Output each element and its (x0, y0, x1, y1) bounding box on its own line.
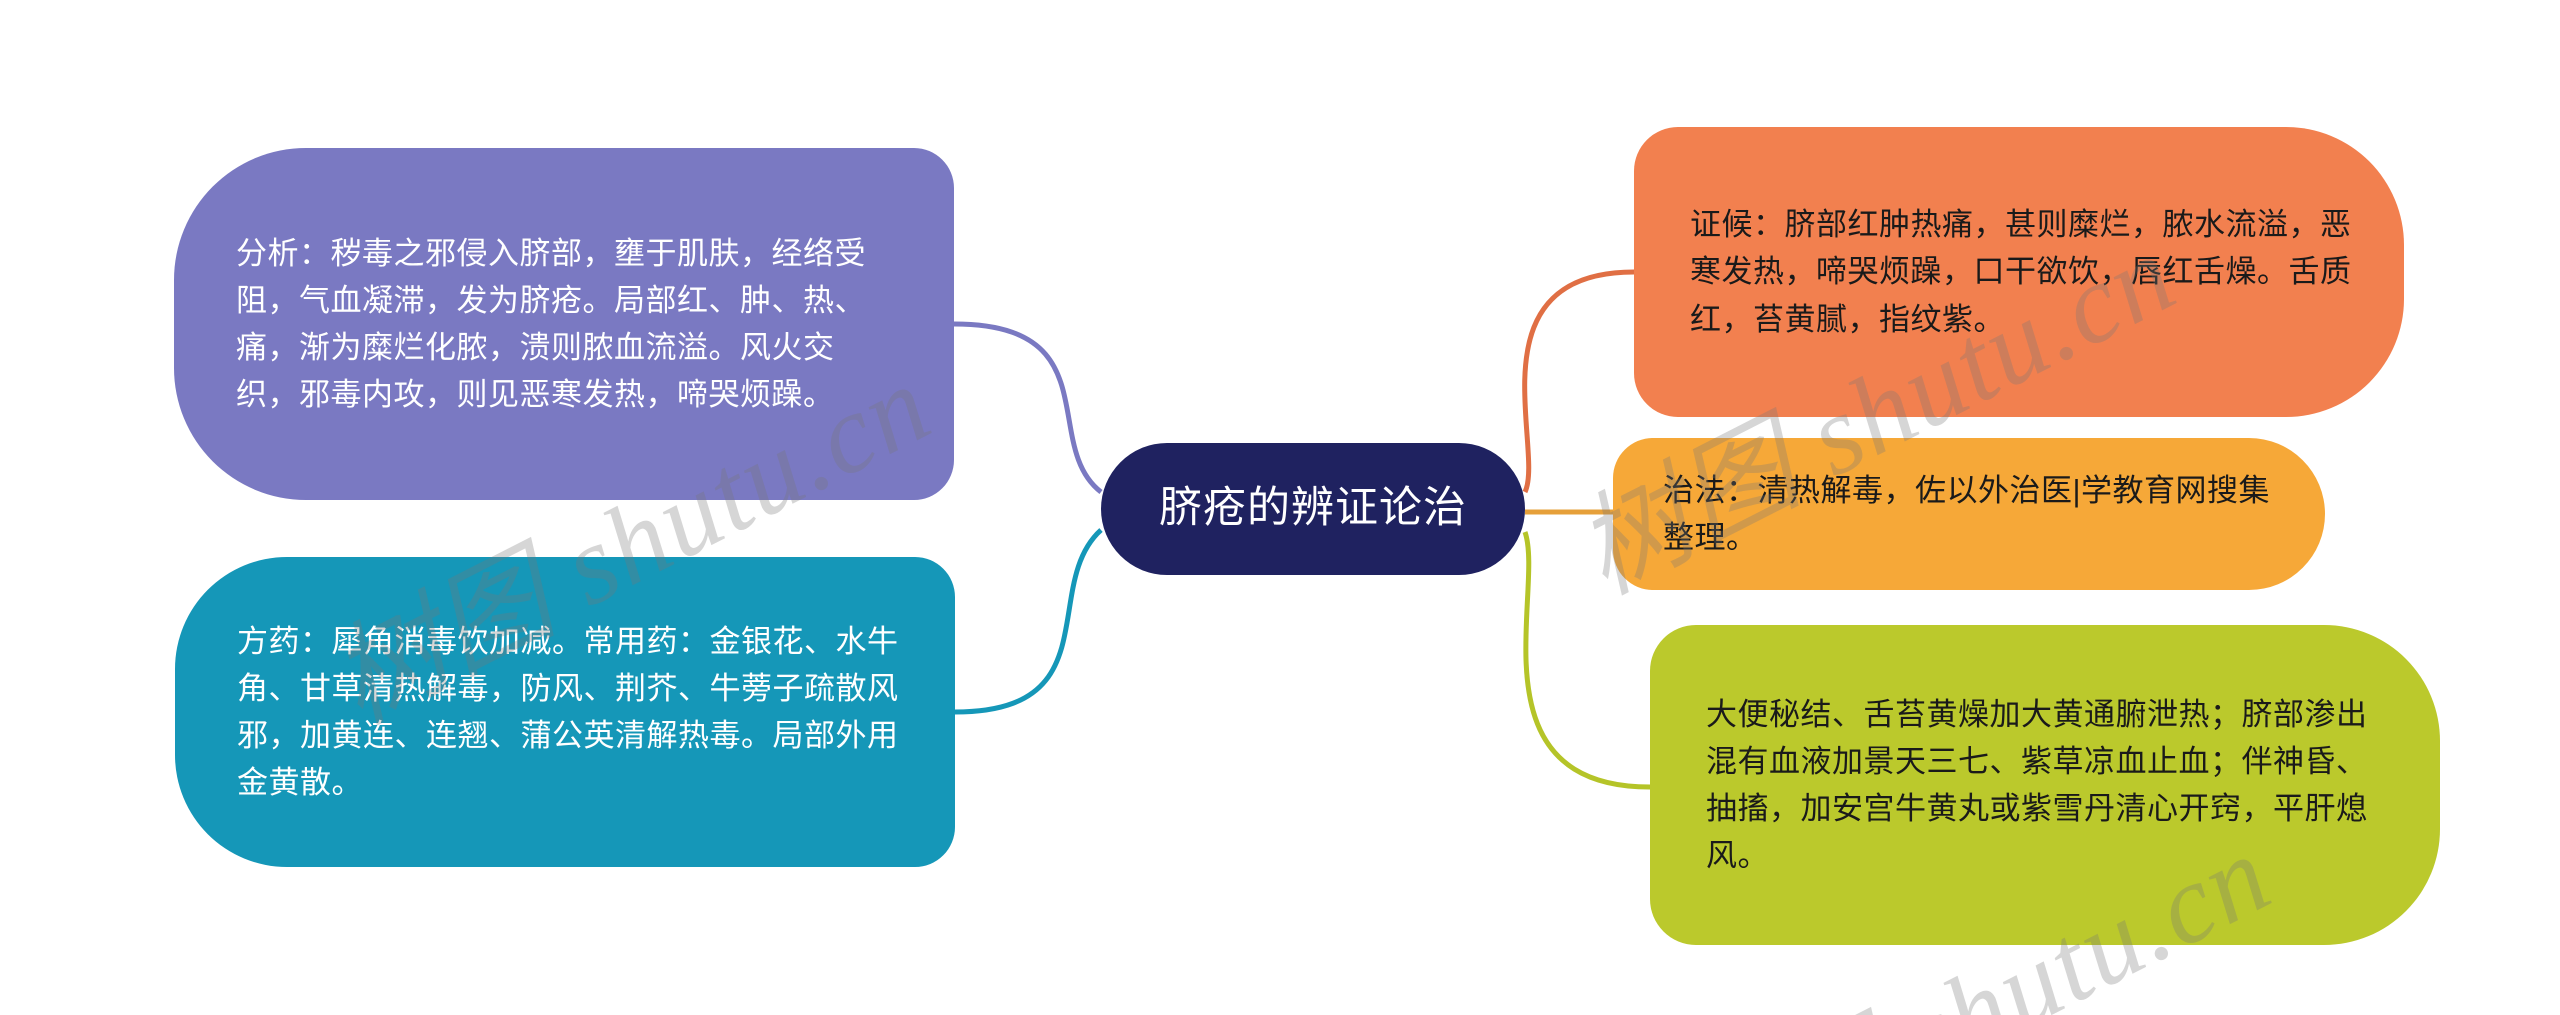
branch-node-analysis-label: 分析：秽毒之邪侵入脐部，壅于肌肤，经络受阻，气血凝滞，发为脐疮。局部红、肿、热、… (236, 230, 896, 418)
mindmap-canvas: 树图 shutu.cn 树图 shutu.cn 树图 shutu.cn 脐疮的辨… (0, 0, 2560, 1015)
root-node-label: 脐疮的辨证论治 (1101, 483, 1525, 535)
branch-node-analysis[interactable]: 分析：秽毒之邪侵入脐部，壅于肌肤，经络受阻，气血凝滞，发为脐疮。局部红、肿、热、… (174, 148, 954, 500)
branch-node-therapy-label: 治法：清热解毒，佐以外治医|学教育网搜集整理。 (1663, 467, 2281, 561)
branch-node-symptoms-label: 证候：脐部红肿热痛，甚则糜烂，脓水流溢，恶寒发热，啼哭烦躁，口干欲饮，唇红舌燥。… (1690, 201, 2352, 342)
root-node[interactable]: 脐疮的辨证论治 (1101, 443, 1525, 575)
branch-node-therapy[interactable]: 治法：清热解毒，佐以外治医|学教育网搜集整理。 (1613, 438, 2325, 590)
branch-node-symptoms[interactable]: 证候：脐部红肿热痛，甚则糜烂，脓水流溢，恶寒发热，啼哭烦躁，口干欲饮，唇红舌燥。… (1634, 127, 2404, 417)
branch-node-modify-label: 大便秘结、舌苔黄燥加大黄通腑泄热；脐部渗出混有血液加景天三七、紫草凉血止血；伴神… (1706, 691, 2390, 879)
branch-node-modify[interactable]: 大便秘结、舌苔黄燥加大黄通腑泄热；脐部渗出混有血液加景天三七、紫草凉血止血；伴神… (1650, 625, 2440, 945)
branch-node-formula-label: 方药：犀角消毒饮加减。常用药：金银花、水牛角、甘草清热解毒，防风、荆芥、牛蒡子疏… (237, 618, 899, 806)
connector-analysis (954, 324, 1101, 492)
connector-formula (955, 530, 1101, 712)
branch-node-formula[interactable]: 方药：犀角消毒饮加减。常用药：金银花、水牛角、甘草清热解毒，防风、荆芥、牛蒡子疏… (175, 557, 955, 867)
